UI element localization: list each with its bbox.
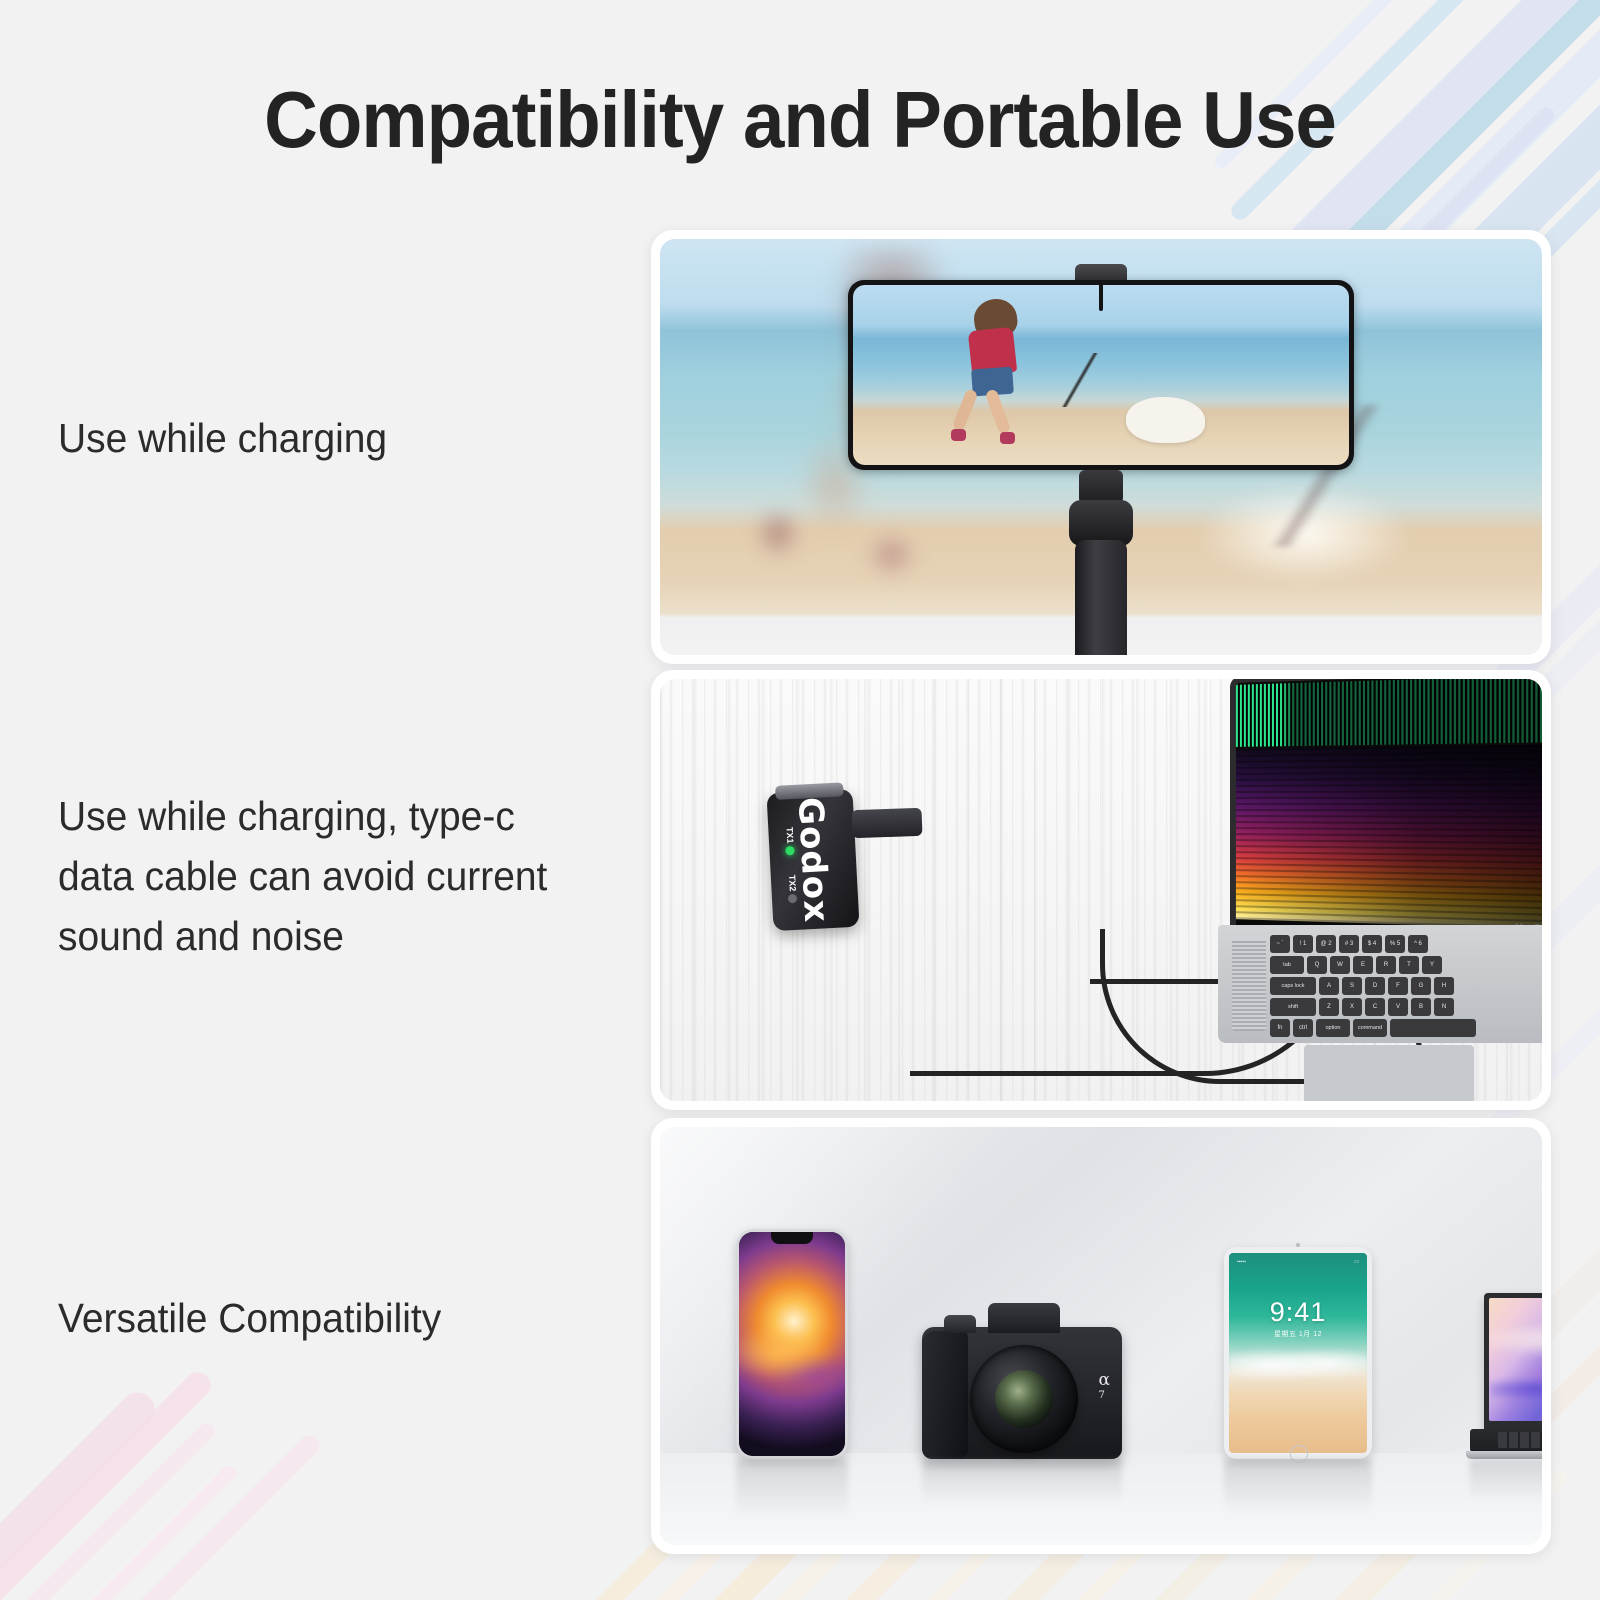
key[interactable]: W — [1330, 956, 1350, 974]
wallpaper-swirl — [739, 1286, 845, 1420]
key[interactable]: ~ ` — [1270, 935, 1290, 953]
runner-shoe — [1000, 432, 1015, 444]
key[interactable]: D — [1365, 977, 1385, 995]
waveform-shading — [1236, 679, 1542, 747]
key[interactable]: ! 1 — [1293, 935, 1313, 953]
key-shift[interactable]: shift — [1270, 998, 1316, 1016]
runner-leg — [951, 389, 978, 433]
notch-icon — [771, 1232, 813, 1244]
trackpad[interactable] — [1304, 1045, 1474, 1101]
carrier-label: ▪▪▪▪▪ — [1237, 1259, 1246, 1265]
camera-viewfinder-hump — [988, 1303, 1060, 1333]
key[interactable]: C — [1365, 998, 1385, 1016]
panel-image-device-lineup: α7 ▪▪▪▪▪ ▭ 9:41 星期五 1月 12 — [660, 1127, 1542, 1545]
key-fn[interactable]: fn — [1270, 1019, 1290, 1037]
device-laptop: DELL — [1470, 1293, 1542, 1459]
decorative-stripe — [0, 1385, 162, 1600]
key[interactable]: Z — [1319, 998, 1339, 1016]
caption-use-while-charging: Use while charging — [58, 408, 387, 468]
keyboard-row: ~ ` ! 1 @ 2 # 3 $ 4 % 5 ^ 6 — [1270, 935, 1428, 953]
key[interactable]: A — [1319, 977, 1339, 995]
smartphone — [848, 280, 1354, 470]
phone-tripod — [971, 264, 1231, 655]
decorative-stripe — [76, 1431, 323, 1600]
panel-use-while-charging: Godox TX1 TX2 — [651, 230, 1551, 664]
key[interactable]: B — [1411, 998, 1431, 1016]
caption-line: sound and noise — [58, 906, 647, 966]
device-reflection — [1224, 1459, 1372, 1514]
wave-foam — [1229, 1345, 1367, 1385]
key-ctrl[interactable]: ctrl — [1293, 1019, 1313, 1037]
panel-type-c-data-cable: Godox TX1 TX2 MacBook ~ ` ! 1 — [651, 670, 1551, 1110]
camera-model-number: 7 — [1099, 1388, 1110, 1403]
caption-line: Use while charging, type-c — [58, 786, 647, 846]
key[interactable]: @ 2 — [1316, 935, 1336, 953]
device-smartphone — [736, 1229, 848, 1459]
camera-model-label: α7 — [1099, 1373, 1110, 1403]
key[interactable]: X — [1342, 998, 1362, 1016]
key[interactable]: E — [1353, 956, 1373, 974]
phone-notch-icon — [1099, 285, 1103, 311]
lock-screen-clock: 9:41 — [1229, 1297, 1367, 1328]
caption-line: data cable can avoid current — [58, 846, 647, 906]
lens-glass — [995, 1370, 1053, 1428]
spectrogram-lines — [1236, 744, 1542, 930]
lock-screen-date: 星期五 1月 12 — [1229, 1329, 1367, 1339]
laptop-wallpaper — [1489, 1298, 1542, 1421]
key[interactable]: H — [1434, 977, 1454, 995]
key[interactable]: N — [1434, 998, 1454, 1016]
keyboard-row: shift Z X C V B N — [1270, 998, 1454, 1016]
tx1-label: TX1 — [785, 827, 796, 844]
key[interactable]: F — [1388, 977, 1408, 995]
key-command[interactable]: command — [1353, 1019, 1387, 1037]
key-space[interactable] — [1390, 1019, 1476, 1037]
device-reflection — [1470, 1459, 1542, 1502]
dog-figure — [1126, 397, 1205, 444]
dog-leash — [1017, 353, 1146, 407]
key[interactable]: S — [1342, 977, 1362, 995]
caption-type-c-data-cable: Use while charging, type-c data cable ca… — [58, 786, 647, 966]
tripod-neck — [1079, 470, 1123, 504]
key[interactable]: Y — [1422, 956, 1442, 974]
key[interactable]: V — [1388, 998, 1408, 1016]
laptop-keyboard[interactable] — [1498, 1432, 1542, 1448]
macbook-laptop: MacBook ~ ` ! 1 @ 2 # 3 $ 4 % 5 ^ 6 tab … — [1208, 679, 1542, 1101]
runner-shoe — [951, 429, 966, 441]
decorative-stripe — [0, 1420, 218, 1600]
smartphone-screen — [739, 1232, 845, 1456]
macbook-screen: MacBook — [1230, 679, 1542, 939]
keyboard-row: tab Q W E R T Y — [1270, 956, 1442, 974]
camera-mode-dial — [944, 1315, 976, 1333]
tripod-handle — [1075, 540, 1127, 655]
device-reflection — [922, 1459, 1122, 1505]
key-option[interactable]: option — [1316, 1019, 1350, 1037]
laptop-screen — [1489, 1298, 1542, 1421]
keyboard-row: caps lock A S D F G H — [1270, 977, 1454, 995]
front-camera-icon — [1296, 1243, 1300, 1247]
tx2-label: TX2 — [787, 875, 798, 892]
godox-receiver-device: Godox TX1 TX2 — [766, 789, 859, 931]
camera-lens — [970, 1345, 1078, 1453]
key[interactable]: # 3 — [1339, 935, 1359, 953]
page-title: Compatibility and Portable Use — [56, 74, 1544, 166]
decorative-stripe — [45, 1463, 239, 1600]
laptop-lid: DELL — [1484, 1293, 1542, 1433]
phone-screen — [853, 285, 1349, 465]
device-mirrorless-camera: α7 — [922, 1283, 1122, 1459]
key[interactable]: T — [1399, 956, 1419, 974]
key[interactable]: G — [1411, 977, 1431, 995]
runner-leg — [985, 389, 1012, 436]
keyboard-row: fn ctrl option command — [1270, 1019, 1476, 1037]
panel-versatile-compatibility: α7 ▪▪▪▪▪ ▭ 9:41 星期五 1月 12 — [651, 1118, 1551, 1554]
key[interactable]: ^ 6 — [1408, 935, 1428, 953]
caption-versatile-compatibility: Versatile Compatibility — [58, 1288, 441, 1348]
device-reflection — [736, 1459, 848, 1519]
key[interactable]: Q — [1307, 956, 1327, 974]
key-tab[interactable]: tab — [1270, 956, 1304, 974]
device-tablet: ▪▪▪▪▪ ▭ 9:41 星期五 1月 12 — [1224, 1247, 1372, 1459]
decorative-stripe — [0, 1367, 216, 1600]
status-bar: ▪▪▪▪▪ ▭ — [1229, 1259, 1367, 1265]
battery-icon: ▭ — [1354, 1259, 1359, 1265]
key[interactable]: R — [1376, 956, 1396, 974]
key[interactable]: $ 4 — [1362, 935, 1382, 953]
laptop-front-edge — [1466, 1451, 1542, 1459]
panel-image-macbook-wood: Godox TX1 TX2 MacBook ~ ` ! 1 — [660, 679, 1542, 1101]
key-caps-lock[interactable]: caps lock — [1270, 977, 1316, 995]
key[interactable]: % 5 — [1385, 935, 1405, 953]
godox-brand-logo: Godox — [790, 796, 837, 924]
tablet-screen: ▪▪▪▪▪ ▭ 9:41 星期五 1月 12 — [1229, 1253, 1367, 1453]
camera-grip — [922, 1331, 968, 1459]
macbook-base: ~ ` ! 1 @ 2 # 3 $ 4 % 5 ^ 6 tab Q W E R … — [1218, 925, 1542, 1043]
speaker-grille-icon — [1232, 939, 1266, 1031]
panel-image-beach-tripod: Godox TX1 TX2 — [660, 239, 1542, 655]
